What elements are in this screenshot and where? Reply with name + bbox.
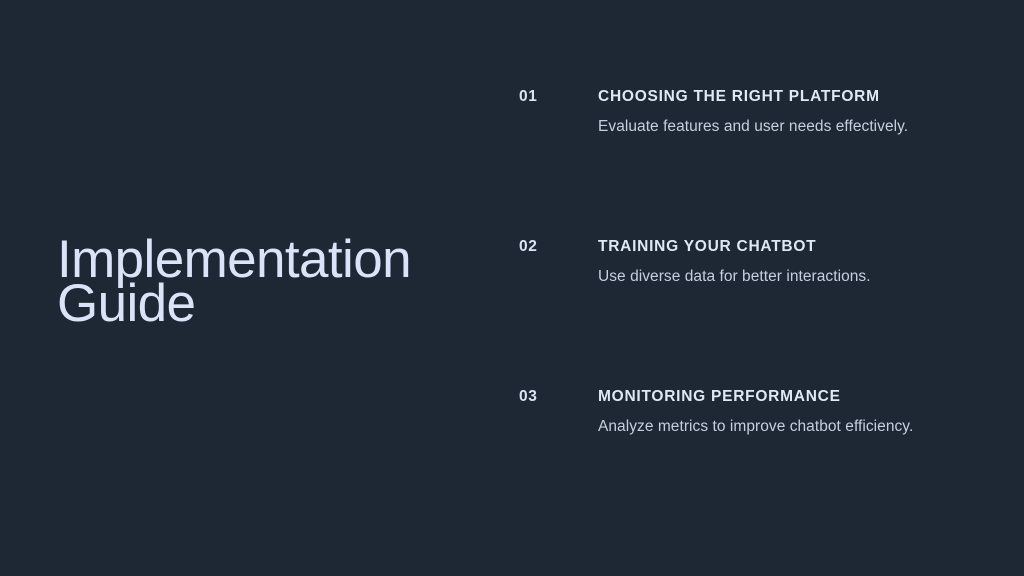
step-row: 03 MONITORING PERFORMANCE Analyze metric… (519, 386, 989, 437)
title-block: Implementation Guide (57, 238, 477, 326)
step-number: 02 (519, 236, 598, 258)
steps-list: 01 CHOOSING THE RIGHT PLATFORM Evaluate … (519, 86, 989, 437)
step-description: Use diverse data for better interactions… (598, 266, 989, 287)
step-row: 02 TRAINING YOUR CHATBOT Use diverse dat… (519, 236, 989, 287)
step-body: MONITORING PERFORMANCE Analyze metrics t… (598, 386, 989, 437)
list-item: 02 TRAINING YOUR CHATBOT Use diverse dat… (519, 236, 989, 386)
step-heading: MONITORING PERFORMANCE (598, 386, 989, 408)
step-row: 01 CHOOSING THE RIGHT PLATFORM Evaluate … (519, 86, 989, 137)
step-heading: TRAINING YOUR CHATBOT (598, 236, 989, 258)
step-description: Analyze metrics to improve chatbot effic… (598, 416, 989, 437)
step-body: TRAINING YOUR CHATBOT Use diverse data f… (598, 236, 989, 287)
page-title: Implementation Guide (57, 238, 477, 326)
step-number: 01 (519, 86, 598, 108)
list-item: 01 CHOOSING THE RIGHT PLATFORM Evaluate … (519, 86, 989, 236)
step-number: 03 (519, 386, 598, 408)
list-item: 03 MONITORING PERFORMANCE Analyze metric… (519, 386, 989, 437)
step-heading: CHOOSING THE RIGHT PLATFORM (598, 86, 989, 108)
step-body: CHOOSING THE RIGHT PLATFORM Evaluate fea… (598, 86, 989, 137)
slide-canvas: Implementation Guide 01 CHOOSING THE RIG… (0, 0, 1024, 576)
step-description: Evaluate features and user needs effecti… (598, 116, 989, 137)
